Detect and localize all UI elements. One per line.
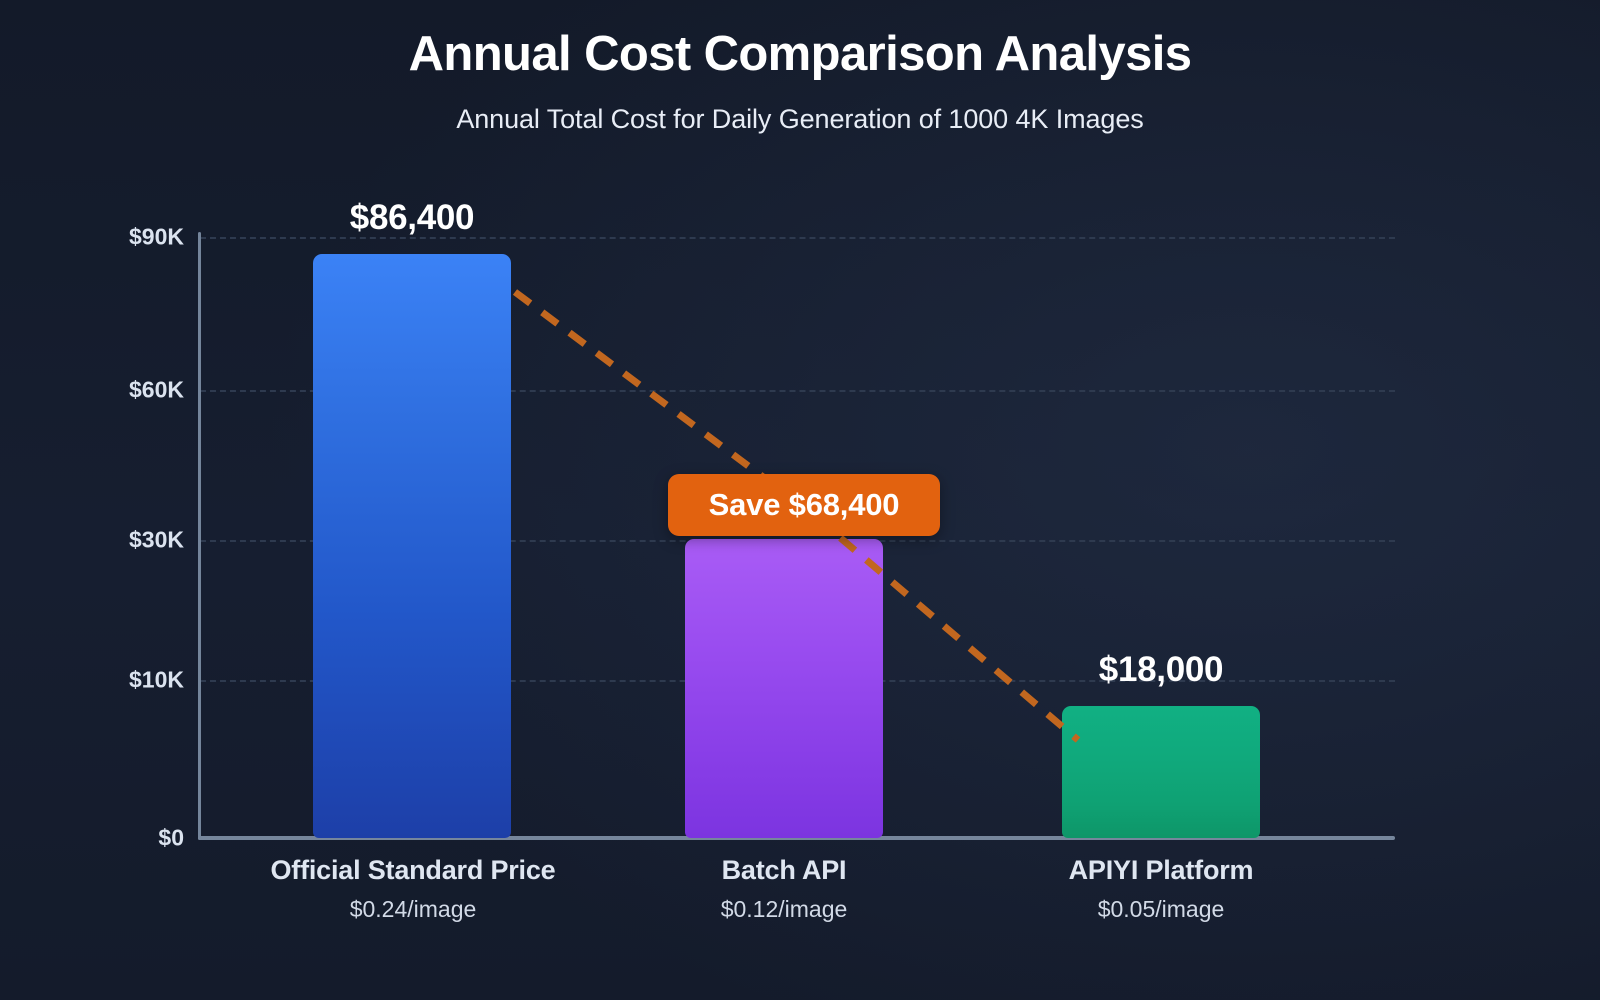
y-tick-90k: $90K xyxy=(24,224,184,251)
savings-badge-label: Save $68,400 xyxy=(668,474,940,536)
bar-official-standard-price[interactable] xyxy=(313,254,511,838)
category-label-official-standard-price: Official Standard Price xyxy=(263,855,563,886)
y-tick-60k: $60K xyxy=(24,377,184,404)
category-sublabel-apiyi-platform: $0.05/image xyxy=(1011,896,1311,923)
savings-badge[interactable]: Save $68,400 xyxy=(668,474,940,536)
bar-value-apiyi-platform: $18,000 xyxy=(1062,650,1260,690)
y-tick-10k: $10K xyxy=(24,667,184,694)
y-tick-0: $0 xyxy=(24,825,184,852)
cost-comparison-chart: Annual Cost Comparison Analysis Annual T… xyxy=(0,0,1600,1000)
category-label-batch-api: Batch API xyxy=(634,855,934,886)
bar-batch-api[interactable] xyxy=(685,539,883,838)
category-sublabel-official-standard-price: $0.24/image xyxy=(263,896,563,923)
y-axis-line xyxy=(198,232,201,840)
y-tick-30k: $30K xyxy=(24,527,184,554)
category-label-apiyi-platform: APIYI Platform xyxy=(1011,855,1311,886)
bar-value-official-standard-price: $86,400 xyxy=(313,198,511,238)
y-axis-ticks: $90K $60K $30K $10K $0 xyxy=(16,0,184,1000)
chart-subtitle: Annual Total Cost for Daily Generation o… xyxy=(0,104,1600,135)
chart-title: Annual Cost Comparison Analysis xyxy=(0,26,1600,82)
category-sublabel-batch-api: $0.12/image xyxy=(634,896,934,923)
bar-apiyi-platform[interactable] xyxy=(1062,706,1260,838)
